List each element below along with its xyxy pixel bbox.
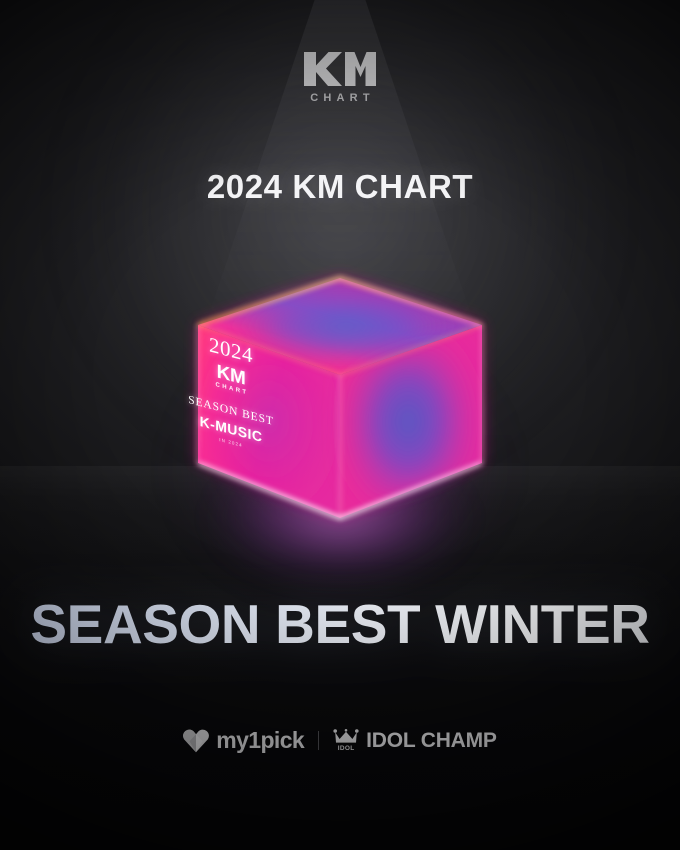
heart-diamond-icon <box>183 729 209 753</box>
brand-idol-champ[interactable]: IDOL IDOL CHAMP <box>333 729 497 753</box>
km-chart-logo-subtext: CHART <box>305 92 375 104</box>
crown-icon <box>333 729 359 744</box>
headline: SEASON BEST WINTER <box>0 592 680 656</box>
brand-my1pick[interactable]: my1pick <box>183 727 304 754</box>
footer-divider <box>318 731 319 750</box>
page-title: 2024 KM CHART <box>0 168 680 206</box>
brand-my1pick-label: my1pick <box>216 727 304 754</box>
idol-crown-label: IDOL <box>338 745 355 752</box>
award-cube: 2024 KM CHART SEASON BEST K-MUSIC IN 202… <box>125 262 555 552</box>
brand-idol-champ-label: IDOL CHAMP <box>366 729 497 753</box>
footer-partners: my1pick IDOL IDOL CHAMP <box>0 727 680 754</box>
km-chart-logomark: CHART <box>0 52 680 104</box>
idol-crown-mark: IDOL <box>333 729 359 752</box>
km-logo-icon <box>304 52 376 86</box>
km-chart-poster: CHART 2024 KM CHART <box>0 0 680 850</box>
cube-graphic <box>125 262 555 552</box>
